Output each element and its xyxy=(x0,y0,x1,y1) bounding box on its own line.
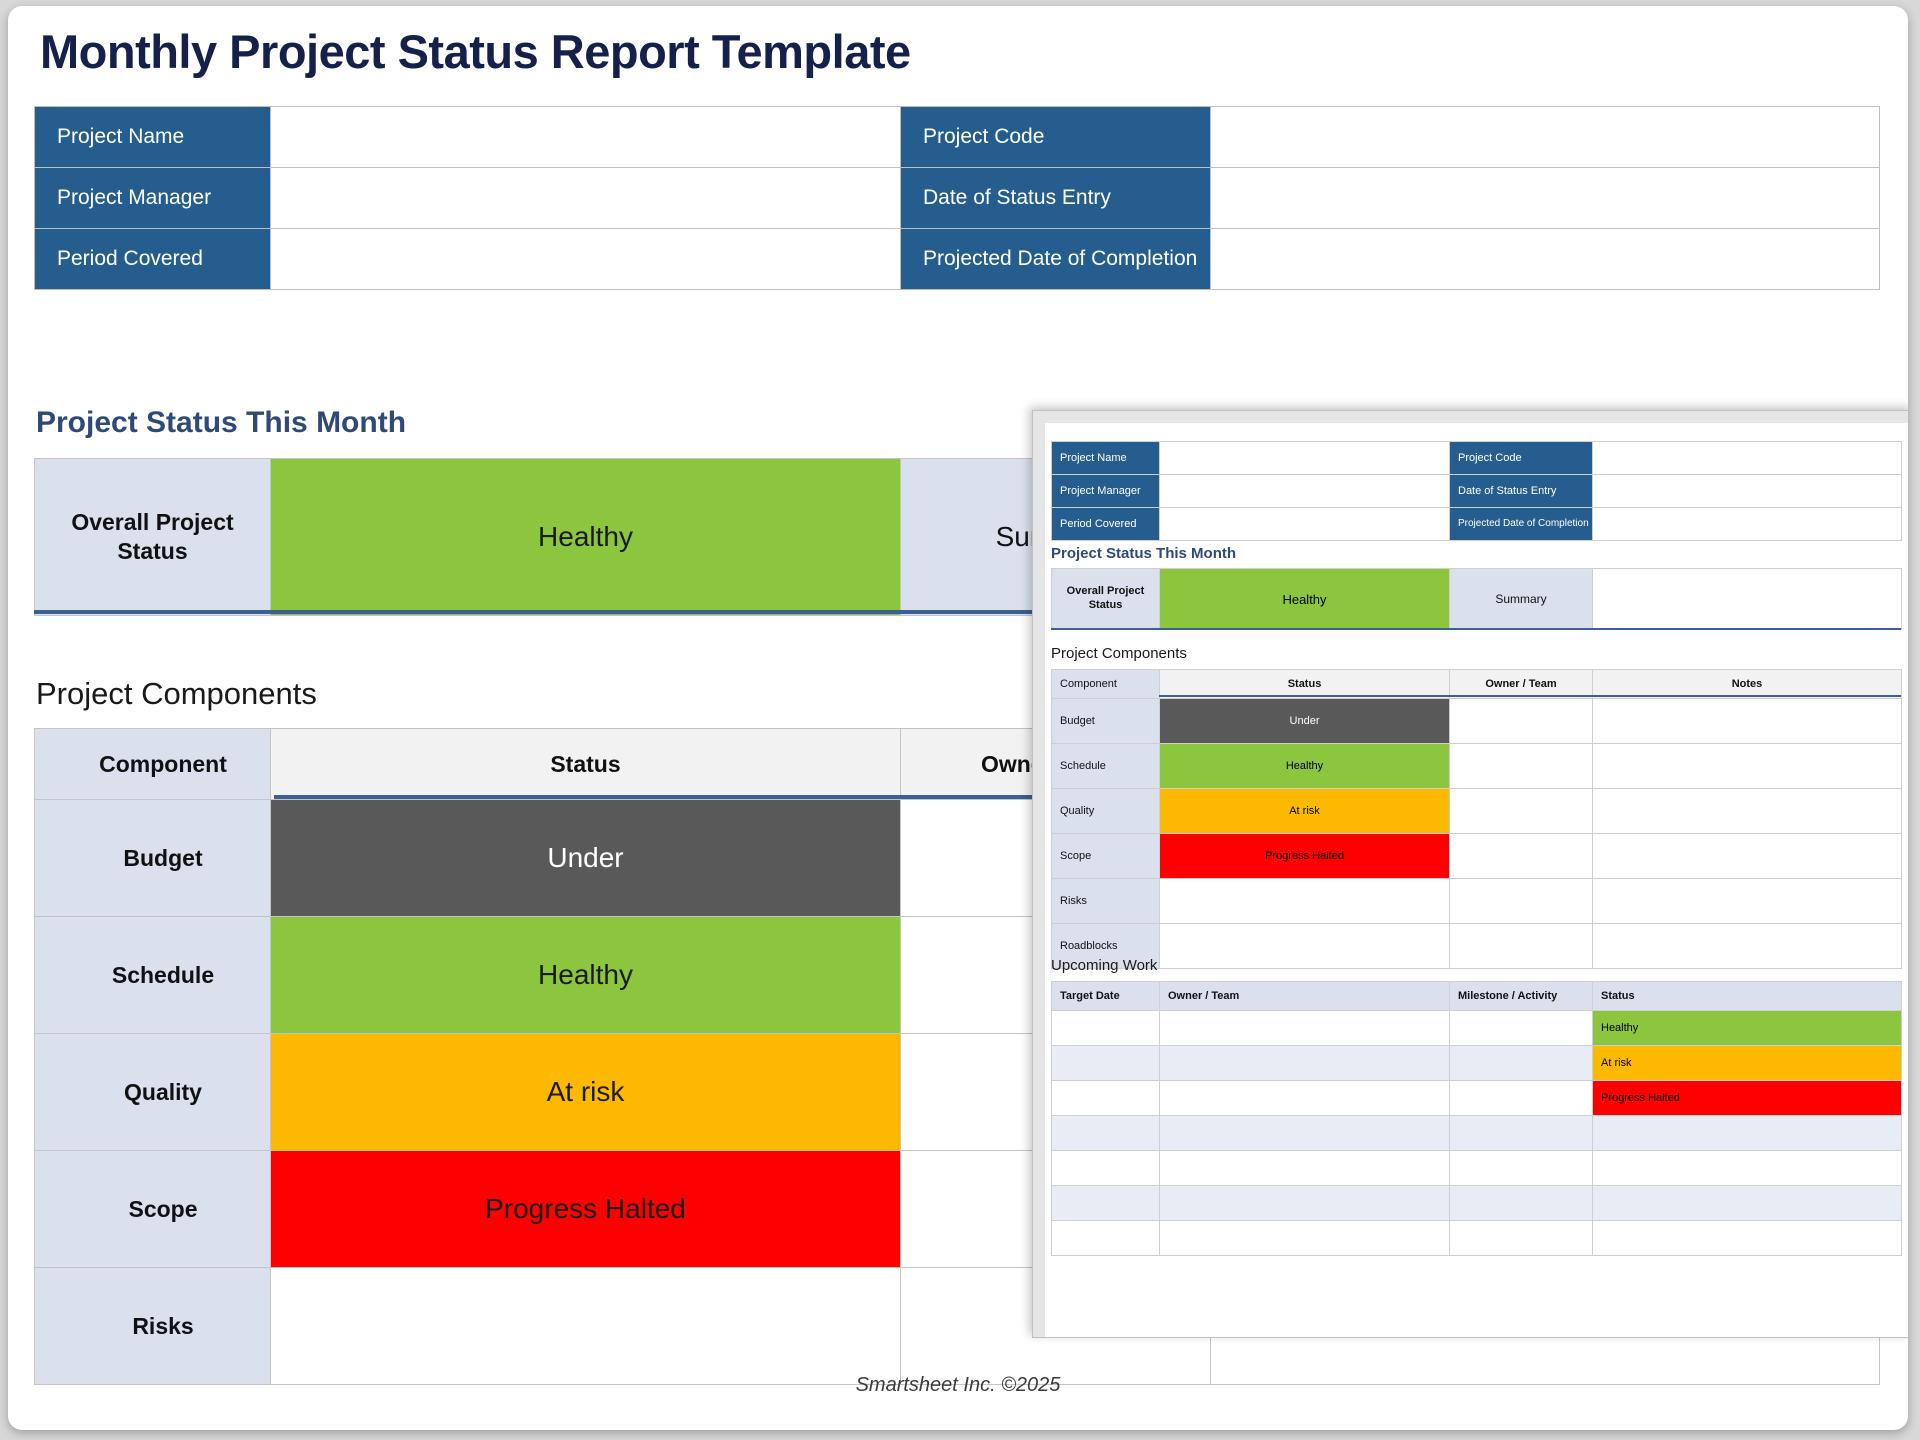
thumb-col-header-milestone: Milestone / Activity xyxy=(1450,982,1593,1011)
thumb-uw-owner-3[interactable] xyxy=(1160,1081,1450,1116)
thumb-component-status-risks[interactable] xyxy=(1160,879,1450,924)
thumb-component-name-risks: Risks xyxy=(1052,879,1160,924)
thumb-field-value-period-covered[interactable] xyxy=(1160,508,1450,541)
thumb-component-name-scope: Scope xyxy=(1052,834,1160,879)
field-label-period-covered: Period Covered xyxy=(35,229,271,290)
field-value-project-name[interactable] xyxy=(271,107,901,168)
table-row: Project Manager Date of Status Entry xyxy=(35,168,1880,229)
thumb-component-notes-roadblocks[interactable] xyxy=(1593,924,1902,969)
thumb-uw-target-date-5[interactable] xyxy=(1052,1151,1160,1186)
thumb-uw-target-date-7[interactable] xyxy=(1052,1221,1160,1256)
thumb-component-notes-budget[interactable] xyxy=(1593,699,1902,744)
thumb-status-rule xyxy=(1051,628,1901,630)
thumb-uw-owner-5[interactable] xyxy=(1160,1151,1450,1186)
thumb-summary-label: Summary xyxy=(1450,569,1593,630)
thumb-uw-milestone-2[interactable] xyxy=(1450,1046,1593,1081)
table-row: Period Covered Projected Date of Complet… xyxy=(35,229,1880,290)
thumb-uw-milestone-7[interactable] xyxy=(1450,1221,1593,1256)
table-row: Risks xyxy=(1052,879,1902,924)
table-row: Period Covered Projected Date of Complet… xyxy=(1052,508,1902,541)
table-row: Project Name Project Code xyxy=(1052,442,1902,475)
thumb-field-value-project-name[interactable] xyxy=(1160,442,1450,475)
field-value-date-of-status-entry[interactable] xyxy=(1211,168,1880,229)
thumb-component-notes-risks[interactable] xyxy=(1593,879,1902,924)
component-status-quality[interactable]: At risk xyxy=(271,1034,901,1151)
table-row: Progress Halted xyxy=(1052,1081,1902,1116)
thumb-field-label-project-manager: Project Manager xyxy=(1052,475,1160,508)
field-label-project-name: Project Name xyxy=(35,107,271,168)
component-name-risks: Risks xyxy=(35,1268,271,1385)
thumb-component-notes-scope[interactable] xyxy=(1593,834,1902,879)
table-row: Project Manager Date of Status Entry xyxy=(1052,475,1902,508)
thumb-component-owner-risks[interactable] xyxy=(1450,879,1593,924)
thumb-uw-milestone-6[interactable] xyxy=(1450,1186,1593,1221)
thumb-col-header-component: Component xyxy=(1052,670,1160,699)
field-value-projected-date-of-completion[interactable] xyxy=(1211,229,1880,290)
field-value-project-manager[interactable] xyxy=(271,168,901,229)
component-status-budget[interactable]: Under xyxy=(271,800,901,917)
thumb-field-value-date-of-status-entry[interactable] xyxy=(1593,475,1902,508)
thumb-uw-owner-4[interactable] xyxy=(1160,1116,1450,1151)
thumb-uw-owner-2[interactable] xyxy=(1160,1046,1450,1081)
table-row xyxy=(1052,1151,1902,1186)
component-name-quality: Quality xyxy=(35,1034,271,1151)
thumb-component-notes-schedule[interactable] xyxy=(1593,744,1902,789)
thumb-field-label-date-of-status-entry: Date of Status Entry xyxy=(1450,475,1593,508)
thumb-component-status-roadblocks[interactable] xyxy=(1160,924,1450,969)
thumb-section-heading-project-status: Project Status This Month xyxy=(1051,545,1236,562)
thumb-uw-owner-7[interactable] xyxy=(1160,1221,1450,1256)
thumb-uw-status-6[interactable] xyxy=(1593,1186,1902,1221)
thumb-uw-owner-1[interactable] xyxy=(1160,1011,1450,1046)
thumb-col-header-target-date: Target Date xyxy=(1052,982,1160,1011)
table-row: Schedule Healthy xyxy=(1052,744,1902,789)
component-name-schedule: Schedule xyxy=(35,917,271,1034)
thumb-overall-status-table: Overall Project Status Healthy Summary xyxy=(1051,568,1902,630)
component-status-risks[interactable] xyxy=(271,1268,901,1385)
table-row xyxy=(1052,1116,1902,1151)
thumb-component-status-scope[interactable]: Progress Halted xyxy=(1160,834,1450,879)
thumb-summary-value[interactable] xyxy=(1593,569,1902,630)
thumb-uw-status-5[interactable] xyxy=(1593,1151,1902,1186)
thumb-field-value-project-code[interactable] xyxy=(1593,442,1902,475)
thumb-component-name-budget: Budget xyxy=(1052,699,1160,744)
footer-copyright: Smartsheet Inc. ©2025 xyxy=(8,1374,1908,1397)
project-header-table: Project Name Project Code Project Manage… xyxy=(34,106,1880,290)
table-row: Project Name Project Code xyxy=(35,107,1880,168)
field-label-projected-date-of-completion: Projected Date of Completion xyxy=(901,229,1211,290)
thumb-field-label-period-covered: Period Covered xyxy=(1052,508,1160,541)
thumb-uw-milestone-1[interactable] xyxy=(1450,1011,1593,1046)
thumb-uw-milestone-4[interactable] xyxy=(1450,1116,1593,1151)
thumb-uw-milestone-3[interactable] xyxy=(1450,1081,1593,1116)
thumb-project-header-table: Project Name Project Code Project Manage… xyxy=(1051,441,1902,541)
table-row xyxy=(1052,1186,1902,1221)
component-name-scope: Scope xyxy=(35,1151,271,1268)
thumb-uw-status-3[interactable]: Progress Halted xyxy=(1593,1081,1902,1116)
thumbnail-preview-panel[interactable]: Project Name Project Code Project Manage… xyxy=(1032,410,1908,1338)
field-label-date-of-status-entry: Date of Status Entry xyxy=(901,168,1211,229)
thumb-component-owner-schedule[interactable] xyxy=(1450,744,1593,789)
table-header-row: Target Date Owner / Team Milestone / Act… xyxy=(1052,982,1902,1011)
table-row: Budget Under xyxy=(1052,699,1902,744)
table-row: Scope Progress Halted xyxy=(1052,834,1902,879)
thumb-uw-owner-6[interactable] xyxy=(1160,1186,1450,1221)
thumb-component-name-quality: Quality xyxy=(1052,789,1160,834)
thumb-component-status-quality[interactable]: At risk xyxy=(1160,789,1450,834)
thumb-uw-target-date-1[interactable] xyxy=(1052,1011,1160,1046)
thumb-component-owner-roadblocks[interactable] xyxy=(1450,924,1593,969)
document-page: Monthly Project Status Report Template P… xyxy=(8,6,1908,1430)
thumb-component-notes-quality[interactable] xyxy=(1593,789,1902,834)
overall-status-label: Overall Project Status xyxy=(35,459,271,616)
thumb-components-rule xyxy=(1159,695,1901,697)
thumb-field-label-project-code: Project Code xyxy=(1450,442,1593,475)
thumb-uw-target-date-4[interactable] xyxy=(1052,1116,1160,1151)
thumb-component-status-budget[interactable]: Under xyxy=(1160,699,1450,744)
component-status-schedule[interactable]: Healthy xyxy=(271,917,901,1034)
thumb-uw-target-date-3[interactable] xyxy=(1052,1081,1160,1116)
field-value-project-code[interactable] xyxy=(1211,107,1880,168)
table-row: Healthy xyxy=(1052,1011,1902,1046)
component-status-scope[interactable]: Progress Halted xyxy=(271,1151,901,1268)
table-row: At risk xyxy=(1052,1046,1902,1081)
thumb-uw-status-2[interactable]: At risk xyxy=(1593,1046,1902,1081)
thumb-section-heading-project-components: Project Components xyxy=(1051,645,1187,662)
thumb-field-label-projected-date-of-completion: Projected Date of Completion xyxy=(1450,508,1593,541)
col-header-component: Component xyxy=(35,729,271,800)
thumbnail-page: Project Name Project Code Project Manage… xyxy=(1045,423,1908,1337)
thumb-component-owner-scope[interactable] xyxy=(1450,834,1593,879)
col-header-status: Status xyxy=(271,729,901,800)
thumb-uw-status-1[interactable]: Healthy xyxy=(1593,1011,1902,1046)
field-value-period-covered[interactable] xyxy=(271,229,901,290)
table-row: Roadblocks xyxy=(1052,924,1902,969)
thumb-col-header-uw-status: Status xyxy=(1593,982,1902,1011)
thumb-uw-status-7[interactable] xyxy=(1593,1221,1902,1256)
field-label-project-manager: Project Manager xyxy=(35,168,271,229)
thumb-component-status-schedule[interactable]: Healthy xyxy=(1160,744,1450,789)
thumb-component-owner-budget[interactable] xyxy=(1450,699,1593,744)
thumb-upcoming-work-table: Target Date Owner / Team Milestone / Act… xyxy=(1051,981,1902,1256)
thumb-project-components-table: Component Status Owner / Team Notes Budg… xyxy=(1051,669,1902,969)
thumb-uw-milestone-5[interactable] xyxy=(1450,1151,1593,1186)
thumb-uw-target-date-6[interactable] xyxy=(1052,1186,1160,1221)
table-row: Overall Project Status Healthy Summary xyxy=(1052,569,1902,630)
thumb-uw-status-4[interactable] xyxy=(1593,1116,1902,1151)
thumb-field-value-projected-date-of-completion[interactable] xyxy=(1593,508,1902,541)
table-row xyxy=(1052,1221,1902,1256)
overall-status-value[interactable]: Healthy xyxy=(271,459,901,616)
thumb-overall-status-value[interactable]: Healthy xyxy=(1160,569,1450,630)
table-row: Quality At risk xyxy=(1052,789,1902,834)
field-label-project-code: Project Code xyxy=(901,107,1211,168)
component-name-budget: Budget xyxy=(35,800,271,917)
thumb-section-heading-upcoming-work: Upcoming Work xyxy=(1051,957,1157,974)
thumb-component-name-schedule: Schedule xyxy=(1052,744,1160,789)
page-title: Monthly Project Status Report Template xyxy=(40,24,911,79)
thumb-component-owner-quality[interactable] xyxy=(1450,789,1593,834)
thumb-col-header-owner-team: Owner / Team xyxy=(1160,982,1450,1011)
thumb-uw-target-date-2[interactable] xyxy=(1052,1046,1160,1081)
thumb-overall-status-label: Overall Project Status xyxy=(1052,569,1160,630)
thumb-field-label-project-name: Project Name xyxy=(1052,442,1160,475)
section-heading-project-status: Project Status This Month xyxy=(36,406,406,440)
section-heading-project-components: Project Components xyxy=(36,676,317,712)
thumb-field-value-project-manager[interactable] xyxy=(1160,475,1450,508)
